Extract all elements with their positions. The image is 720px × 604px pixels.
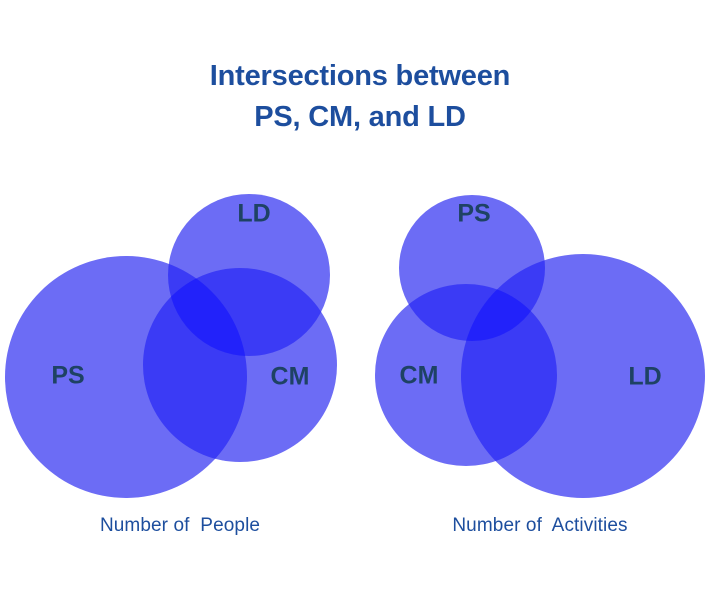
venn-label-cm: CM bbox=[271, 363, 310, 391]
venn-diagram-people: PS CM LD bbox=[0, 180, 360, 510]
venn-diagram-activities: PS CM LD bbox=[360, 180, 720, 510]
venn-figure: Intersections between PS, CM, and LD bbox=[0, 0, 720, 604]
venn-label-cm: CM bbox=[400, 362, 439, 390]
venn-panel-activities: PS CM LD bbox=[360, 180, 720, 510]
venn-caption-activities: Number of Activities bbox=[360, 515, 720, 537]
venn-caption-people: Number of People bbox=[0, 515, 360, 537]
venn-panel-people: PS CM LD bbox=[0, 180, 360, 510]
venn-label-ld: LD bbox=[237, 200, 270, 228]
venn-label-ld: LD bbox=[628, 363, 661, 391]
page-title: Intersections between PS, CM, and LD bbox=[0, 56, 720, 138]
venn-label-ps: PS bbox=[51, 362, 84, 390]
venn-label-ps: PS bbox=[457, 200, 490, 228]
